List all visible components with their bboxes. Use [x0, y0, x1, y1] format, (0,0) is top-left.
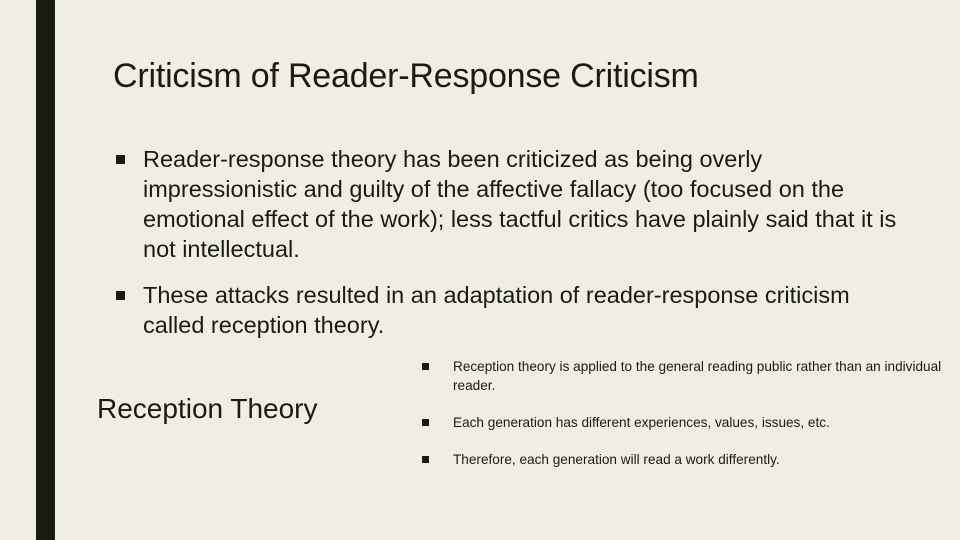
- reception-bullet-text: Reception theory is applied to the gener…: [453, 359, 941, 393]
- square-bullet-icon: [422, 456, 429, 463]
- slide-title: Criticism of Reader-Response Criticism: [113, 57, 753, 96]
- reception-theory-heading: Reception Theory: [97, 393, 407, 425]
- reception-bullet-item: Reception theory is applied to the gener…: [418, 357, 943, 395]
- square-bullet-icon: [422, 419, 429, 426]
- body-bullet-item: Reader-response theory has been criticiz…: [113, 144, 903, 264]
- body-bullet-text: These attacks resulted in an adaptation …: [143, 282, 850, 338]
- body-bullet-list: Reader-response theory has been criticiz…: [113, 144, 903, 340]
- square-bullet-icon: [422, 363, 429, 370]
- body-bullet-item: These attacks resulted in an adaptation …: [113, 280, 903, 340]
- reception-bullet-item: Therefore, each generation will read a w…: [418, 450, 943, 469]
- lower-content-block: Reception Theory Reception theory is app…: [0, 352, 960, 512]
- square-bullet-icon: [116, 291, 125, 300]
- reception-bullet-text: Therefore, each generation will read a w…: [453, 452, 780, 467]
- slide-canvas: Criticism of Reader-Response Criticism R…: [0, 0, 960, 540]
- reception-bullet-item: Each generation has different experience…: [418, 413, 943, 432]
- square-bullet-icon: [116, 155, 125, 164]
- reception-bullet-text: Each generation has different experience…: [453, 415, 830, 430]
- body-bullet-text: Reader-response theory has been criticiz…: [143, 146, 896, 262]
- reception-theory-bullet-list: Reception theory is applied to the gener…: [418, 357, 943, 469]
